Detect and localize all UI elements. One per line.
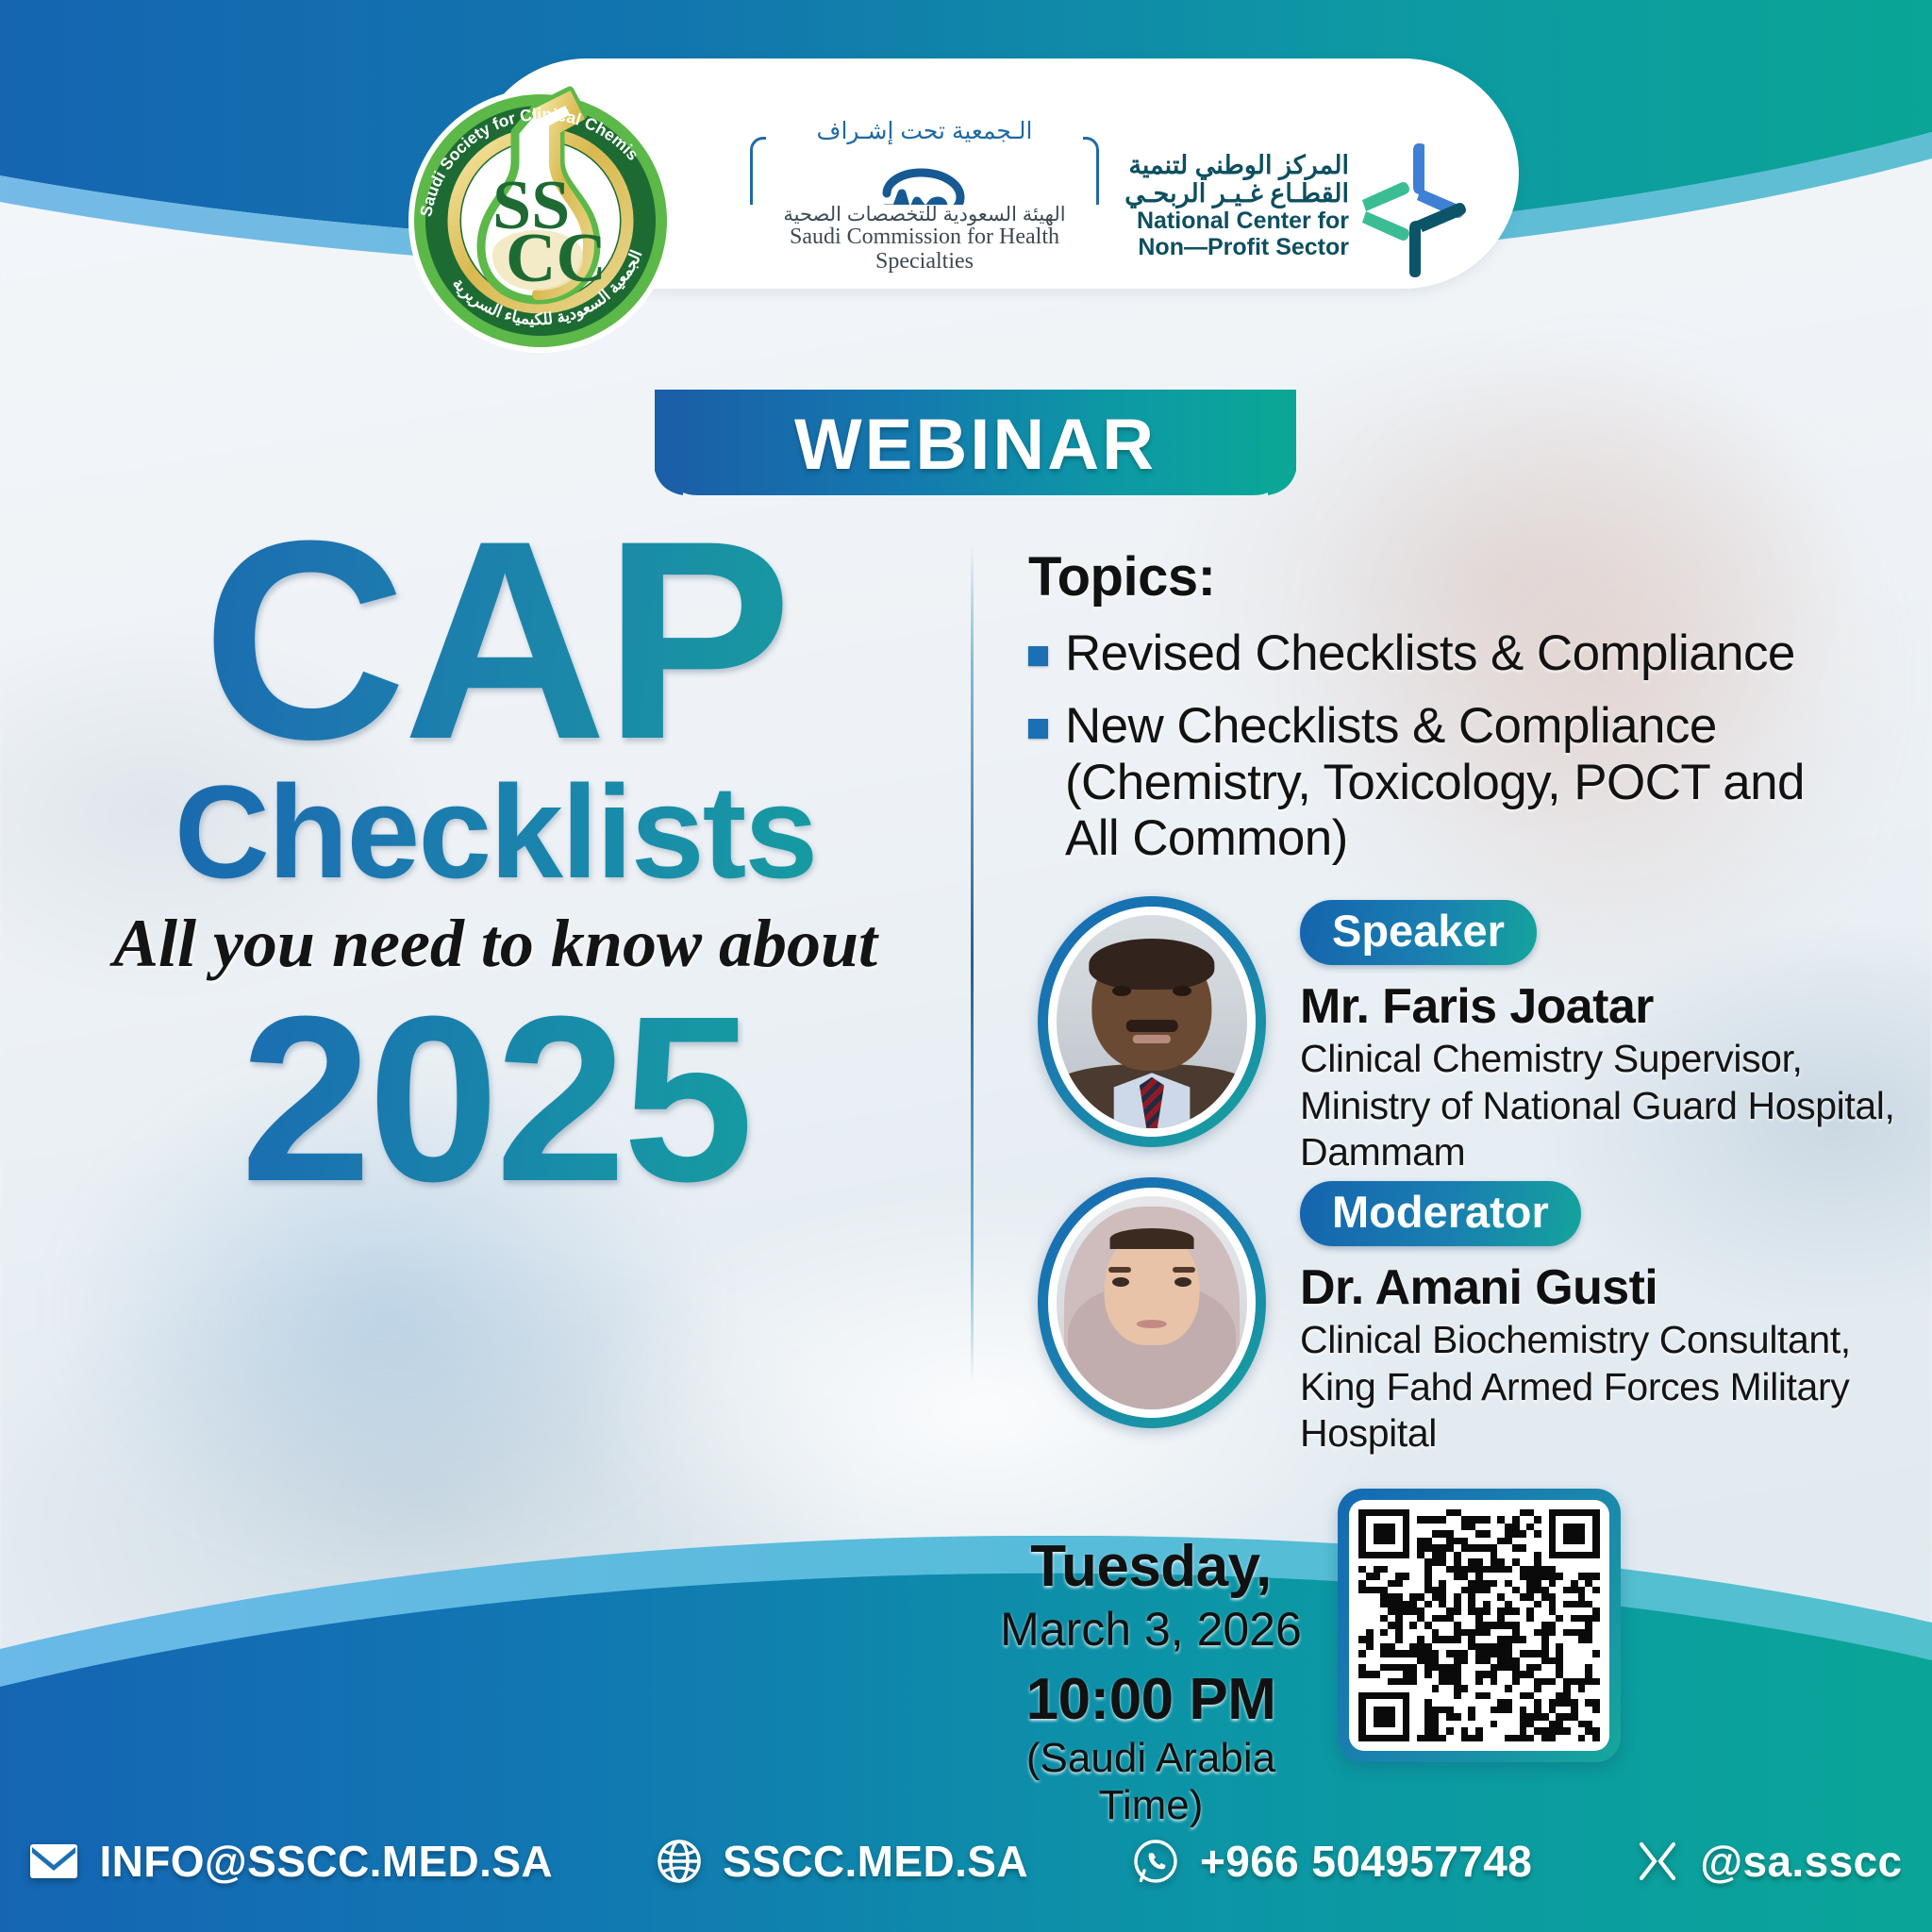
avatar (1048, 1188, 1256, 1418)
schs-arabic-name: الهيئة السعودية للتخصصات الصحية (750, 205, 1099, 226)
schs-supervision-label: الـجمعية تحت إشـراف (750, 117, 1099, 145)
ncnp-arabic-line1: المركز الوطني لتنمية (1123, 151, 1349, 179)
speaker-role-badge: Speaker (1300, 900, 1537, 965)
footer-website[interactable]: SSCC.MED.SA (657, 1836, 1028, 1887)
moderator-title-line1: Clinical Biochemistry Consultant, (1300, 1318, 1851, 1363)
qr-code[interactable] (1358, 1509, 1600, 1741)
speaker-name: Mr. Faris Joatar (1300, 978, 1894, 1035)
event-time: 10:00 PM (981, 1666, 1321, 1733)
title-year: 2025 (57, 981, 934, 1217)
ncnp-english-line2: Non—Profit Sector (1123, 234, 1349, 260)
qr-code-card[interactable] (1338, 1489, 1621, 1762)
bullet-square-icon (1028, 646, 1048, 666)
schs-english-name: Saudi Commission for Health Specialties (750, 225, 1099, 275)
event-date: March 3, 2026 (981, 1602, 1321, 1657)
saudi-commission-health-specialties-logo: الـجمعية تحت إشـراف الهيئة السعودية للتخ… (750, 137, 1099, 269)
envelope-icon (29, 1842, 78, 1880)
title-block: CAP Checklists All you need to know abou… (57, 524, 934, 1217)
speaker-card: Speaker Mr. Faris Joatar Clinical Chemis… (1038, 896, 1894, 1175)
moderator-role-badge: Moderator (1300, 1181, 1581, 1246)
footer-contact-bar: INFO@SSCC.MED.SA SSCC.MED.SA +966 504957… (0, 1790, 1932, 1932)
moderator-card: Moderator Dr. Amani Gusti Clinical Bioch… (1038, 1177, 1851, 1457)
national-center-nonprofit-logo: المركز الوطني لتنمية القطـاع غـيـر الربح… (1123, 151, 1472, 274)
column-divider (971, 543, 974, 1383)
moderator-name: Dr. Amani Gusti (1300, 1259, 1851, 1316)
moderator-portrait (1057, 1196, 1247, 1409)
topics-heading: Topics: (1028, 545, 1858, 608)
footer-whatsapp[interactable]: +966 504957748 (1132, 1836, 1532, 1887)
speaker-title-line1: Clinical Chemistry Supervisor, (1300, 1037, 1894, 1082)
ncnp-english-line1: National Center for (1123, 208, 1349, 234)
topic-item: New Checklists & Compliance (Chemistry, … (1028, 698, 1858, 866)
moderator-info: Moderator Dr. Amani Gusti Clinical Bioch… (1300, 1177, 1851, 1457)
moderator-title-line3: Hospital (1300, 1411, 1851, 1457)
qr-code-inner (1349, 1500, 1609, 1751)
svg-text:CC: CC (506, 220, 607, 297)
bullet-square-icon (1028, 719, 1048, 739)
speaker-title-line2: Ministry of National Guard Hospital, (1300, 1084, 1894, 1129)
avatar (1048, 907, 1256, 1137)
footer-website-label: SSCC.MED.SA (723, 1836, 1028, 1887)
title-cap: CAP (57, 524, 934, 756)
speaker-avatar-ring (1038, 896, 1266, 1147)
topic-text: New Checklists & Compliance (Chemistry, … (1065, 698, 1858, 866)
globe-icon (657, 1839, 702, 1884)
moderator-title-line2: King Fahd Armed Forces Military (1300, 1365, 1851, 1410)
ncnp-star-icon (1358, 138, 1472, 279)
whatsapp-icon (1132, 1838, 1179, 1885)
topic-item: Revised Checklists & Compliance (1028, 625, 1858, 681)
event-day: Tuesday, (981, 1533, 1321, 1600)
footer-x-handle[interactable]: @sa.sscc (1636, 1836, 1902, 1887)
speaker-portrait (1057, 915, 1247, 1128)
footer-email[interactable]: INFO@SSCC.MED.SA (29, 1836, 553, 1887)
footer-email-label: INFO@SSCC.MED.SA (99, 1836, 553, 1887)
sscc-logo: SS CC Saudi Society for Clinical Chemist… (394, 70, 687, 362)
topic-text: Revised Checklists & Compliance (1065, 625, 1795, 681)
speaker-info: Speaker Mr. Faris Joatar Clinical Chemis… (1300, 896, 1894, 1175)
topics-section: Topics: Revised Checklists & Compliance … (1028, 545, 1858, 866)
footer-whatsapp-label: +966 504957748 (1200, 1836, 1532, 1887)
footer-x-label: @sa.sscc (1700, 1836, 1902, 1887)
schs-supervision-text: الـجمعية تحت إشـراف (804, 118, 1046, 144)
event-datetime: Tuesday, March 3, 2026 10:00 PM (Saudi A… (981, 1533, 1321, 1829)
moderator-avatar-ring (1038, 1177, 1266, 1428)
speaker-title-line3: Dammam (1300, 1130, 1894, 1175)
title-checklists: Checklists (57, 769, 934, 894)
schs-names: الهيئة السعودية للتخصصات الصحية Saudi Co… (750, 205, 1099, 275)
ncnp-arabic-line2: القطـاع غـيـر الربحـي (1123, 179, 1349, 208)
webinar-poster: SS CC Saudi Society for Clinical Chemist… (0, 0, 1932, 1932)
x-twitter-icon (1636, 1840, 1679, 1883)
ncnp-text-block: المركز الوطني لتنمية القطـاع غـيـر الربح… (1123, 151, 1349, 260)
